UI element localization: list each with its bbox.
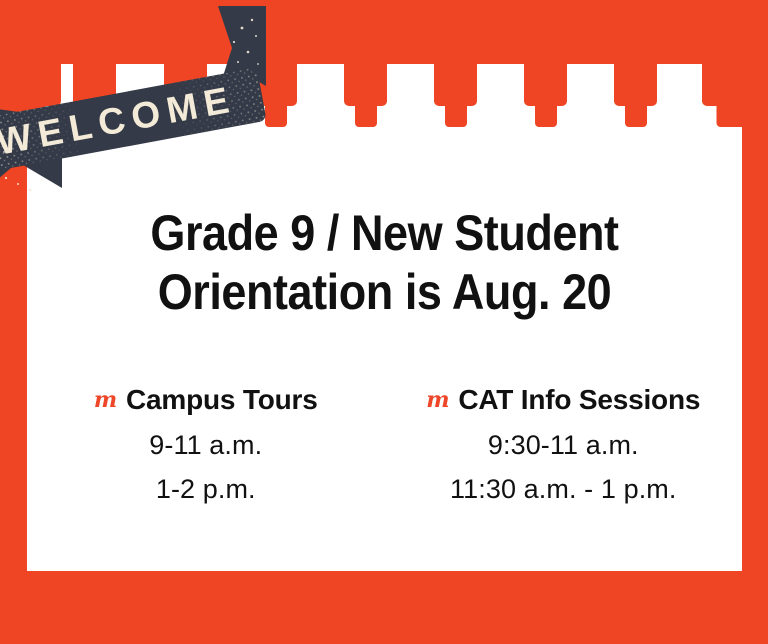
column-time-1: 9:30-11 a.m. <box>385 430 743 461</box>
script-m-ornament-icon: m <box>94 387 117 413</box>
headline-line-2: Orientation is Aug. 20 <box>63 263 707 322</box>
top-edge-notch <box>702 64 742 106</box>
top-edge-notch <box>254 64 297 106</box>
column-time-2: 11:30 a.m. - 1 p.m. <box>385 474 743 505</box>
top-edge-notch-stem <box>625 106 647 127</box>
page-title: Grade 9 / New Student Orientation is Aug… <box>63 204 707 322</box>
top-edge-notch-stem <box>717 106 743 127</box>
top-edge-notch <box>164 64 207 106</box>
column-heading: m CAT Info Sessions <box>385 384 743 416</box>
top-edge-notch-stem <box>84 106 106 127</box>
column-title: Campus Tours <box>126 384 318 416</box>
top-edge-notch <box>524 64 567 106</box>
top-edge-notch <box>614 64 657 106</box>
column-campus-tours: m Campus Tours 9-11 a.m. 1-2 p.m. <box>27 384 385 505</box>
script-m-ornament-icon: m <box>426 387 449 413</box>
orientation-poster: Grade 9 / New Student Orientation is Aug… <box>0 0 768 644</box>
top-edge-notch-stem <box>355 106 377 127</box>
column-cat-info-sessions: m CAT Info Sessions 9:30-11 a.m. 11:30 a… <box>385 384 743 505</box>
column-heading: m Campus Tours <box>27 384 385 416</box>
sessions-columns: m Campus Tours 9-11 a.m. 1-2 p.m. m CAT … <box>27 384 742 505</box>
top-edge-notch-stem <box>265 106 287 127</box>
notched-top-edge <box>27 64 742 128</box>
top-edge-notch <box>27 64 61 106</box>
column-time-1: 9-11 a.m. <box>27 430 385 461</box>
top-edge-notch-stem <box>535 106 557 127</box>
top-edge-notch <box>434 64 477 106</box>
top-edge-notch <box>344 64 387 106</box>
white-card: Grade 9 / New Student Orientation is Aug… <box>27 64 742 571</box>
column-title: CAT Info Sessions <box>458 384 700 416</box>
column-time-2: 1-2 p.m. <box>27 474 385 505</box>
top-edge-notch-stem <box>27 106 46 127</box>
top-edge-notch-stem <box>445 106 467 127</box>
top-edge-notch-stem <box>175 106 197 127</box>
headline-line-1: Grade 9 / New Student <box>63 204 707 263</box>
top-edge-notch <box>73 64 116 106</box>
